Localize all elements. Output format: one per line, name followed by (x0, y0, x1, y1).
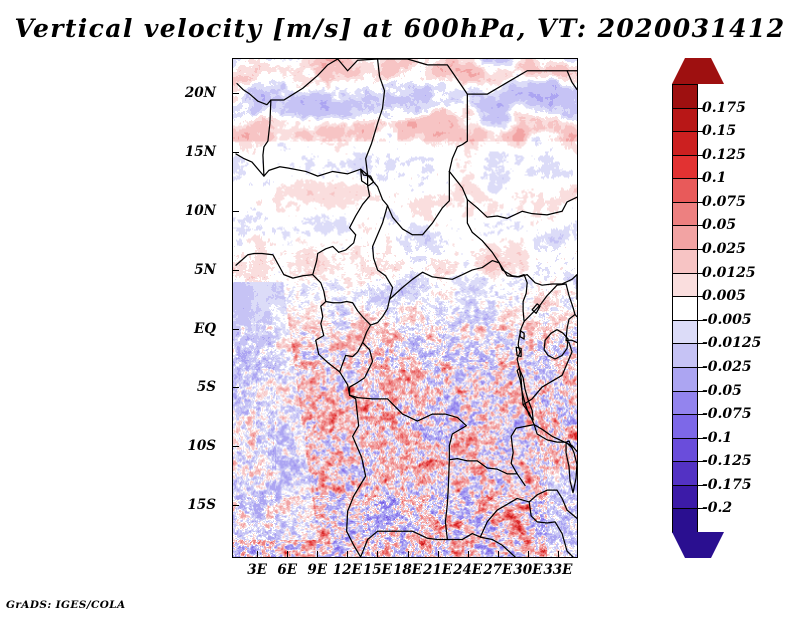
colorbar-segment (672, 155, 698, 180)
border-line (449, 171, 577, 218)
x-tick (468, 551, 469, 558)
country-borders-overlay (233, 59, 577, 557)
y-tick (232, 211, 239, 212)
colorbar-segment (672, 485, 698, 510)
colorbar-tick (698, 461, 705, 462)
x-tick (257, 551, 258, 558)
colorbar-segment (672, 249, 698, 274)
border-line (467, 200, 577, 286)
colorbar-tick (698, 508, 705, 509)
x-axis-label: 21E (423, 562, 452, 578)
colorbar-tick (698, 178, 705, 179)
border-line (368, 171, 450, 234)
colorbar-segment (672, 438, 698, 463)
colorbar-segment (672, 225, 698, 250)
colorbar-tick (698, 485, 705, 486)
border-line (557, 490, 577, 518)
colorbar-segment (672, 367, 698, 392)
border-line (520, 331, 524, 339)
y-tick (232, 270, 239, 271)
colorbar-tick-label: 0.005 (702, 288, 746, 304)
colorbar-tick (698, 438, 705, 439)
y-axis-label: 10N (185, 203, 216, 219)
colorbar-tick-label: -0.175 (702, 477, 752, 493)
border-line (499, 263, 534, 486)
x-tick (558, 551, 559, 558)
colorbar-segment (672, 414, 698, 439)
y-axis-label: 10S (187, 438, 216, 454)
y-axis-label: 15S (187, 497, 216, 513)
colorbar (672, 58, 698, 558)
border-line (338, 59, 385, 175)
x-tick (377, 551, 378, 558)
x-axis-label: 6E (277, 562, 297, 578)
border-line (236, 154, 368, 176)
colorbar-tick-label: 0.0125 (702, 265, 756, 281)
y-axis-label: 15N (185, 144, 216, 160)
colorbar-tick (698, 225, 705, 226)
colorbar-tick-label: -0.0125 (702, 335, 761, 351)
colorbar-segment (672, 273, 698, 298)
x-axis-label: 18E (393, 562, 422, 578)
y-tick (232, 446, 239, 447)
colorbar-tick-label: 0.125 (702, 147, 746, 163)
colorbar-segment (672, 202, 698, 227)
colorbar-tick-label: 0.1 (702, 170, 726, 186)
x-axis-label: 3E (247, 562, 267, 578)
x-axis-label: 9E (307, 562, 327, 578)
colorbar-segment (672, 178, 698, 203)
colorbar-tick (698, 249, 705, 250)
colorbar-tick (698, 391, 705, 392)
colorbar-tick (698, 296, 705, 297)
colorbar-segment (672, 108, 698, 133)
colorbar-tick (698, 202, 705, 203)
colorbar-segment (672, 343, 698, 368)
colorbar-tick-label: -0.025 (702, 359, 752, 375)
border-line (523, 340, 572, 404)
colorbar-extend-min (672, 532, 724, 558)
border-line (567, 71, 577, 90)
y-tick (232, 93, 239, 94)
x-axis-label: 15E (363, 562, 392, 578)
colorbar-tick-label: 0.175 (702, 100, 746, 116)
border-line (480, 490, 557, 537)
y-axis-label: 5S (197, 379, 216, 395)
colorbar-tick-label: -0.125 (702, 453, 752, 469)
border-line (544, 330, 568, 359)
colorbar-segment (672, 508, 698, 533)
colorbar-tick-label: -0.005 (702, 312, 752, 328)
x-axis-label: 30E (513, 562, 542, 578)
colorbar-tick-label: 0.05 (702, 217, 736, 233)
border-line (390, 261, 500, 300)
y-tick (232, 387, 239, 388)
y-tick (232, 329, 239, 330)
colorbar-tick (698, 131, 705, 132)
x-tick (528, 551, 529, 558)
colorbar-tick (698, 155, 705, 156)
border-line (566, 284, 575, 340)
border-line (313, 175, 370, 275)
y-axis-label: EQ (194, 321, 216, 337)
colorbar-tick-label: -0.1 (702, 430, 732, 446)
colorbar-segment (672, 131, 698, 156)
border-line (236, 254, 366, 557)
colorbar-segment (672, 296, 698, 321)
y-tick (232, 152, 239, 153)
colorbar-tick-label: -0.2 (702, 500, 732, 516)
x-axis-label: 24E (453, 562, 482, 578)
border-line (350, 343, 373, 396)
x-tick (498, 551, 499, 558)
border-line (467, 71, 577, 94)
colorbar-segment (672, 391, 698, 416)
x-tick (438, 551, 439, 558)
border-line (237, 59, 338, 105)
footer-credit: GrADS: IGES/COLA (6, 599, 126, 611)
y-tick (232, 505, 239, 506)
colorbar-extend-max (672, 58, 724, 84)
border-line (326, 302, 371, 326)
x-tick (317, 551, 318, 558)
colorbar-tick (698, 320, 705, 321)
colorbar-segment (672, 320, 698, 345)
colorbar-tick-label: 0.025 (702, 241, 746, 257)
colorbar-segment (672, 461, 698, 486)
colorbar-tick-label: 0.15 (702, 123, 736, 139)
border-line (350, 395, 518, 474)
y-axis-label: 5N (194, 262, 216, 278)
border-line (524, 284, 566, 321)
colorbar-tick (698, 343, 705, 344)
colorbar-tick-label: -0.05 (702, 383, 742, 399)
border-line (263, 100, 271, 176)
border-line (445, 460, 449, 540)
map-plot-panel (232, 58, 578, 558)
x-tick (408, 551, 409, 558)
colorbar-tick-label: 0.075 (702, 194, 746, 210)
x-tick (347, 551, 348, 558)
page-title: Vertical velocity [m/s] at 600hPa, VT: 2… (0, 14, 800, 43)
border-line (517, 368, 533, 420)
colorbar-tick (698, 108, 705, 109)
x-axis-label: 27E (483, 562, 512, 578)
x-axis-label: 33E (543, 562, 572, 578)
colorbar-tick (698, 367, 705, 368)
x-tick (287, 551, 288, 558)
y-axis-label: 20N (185, 85, 216, 101)
border-line (378, 59, 468, 171)
colorbar-segment (672, 84, 698, 109)
border-line (575, 314, 577, 316)
border-line (534, 425, 577, 452)
colorbar-tick-label: -0.075 (702, 406, 752, 422)
colorbar-tick (698, 273, 705, 274)
x-axis-label: 12E (333, 562, 362, 578)
colorbar-tick (698, 414, 705, 415)
